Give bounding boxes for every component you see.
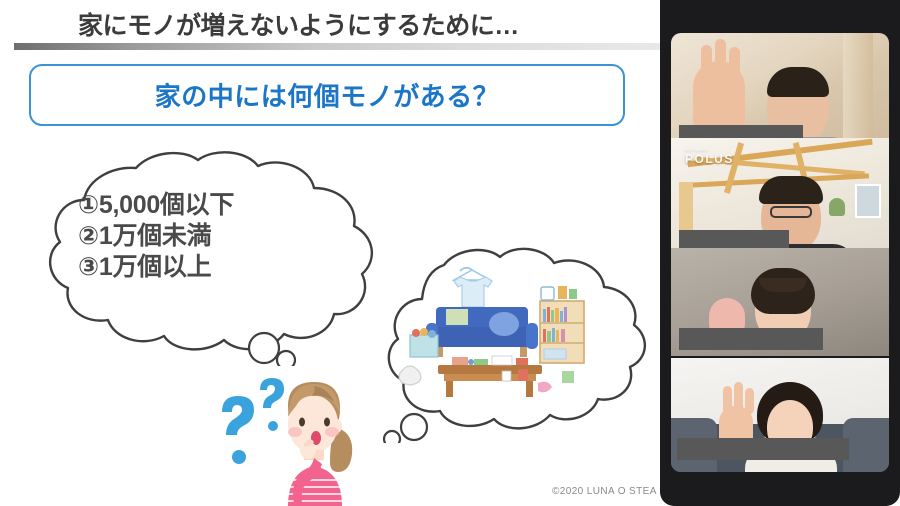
polus-logo: HOUSING POLUS bbox=[685, 148, 734, 165]
video-participants-panel: HOUSING POLUS bbox=[660, 0, 900, 506]
participant-name-redaction bbox=[679, 328, 823, 350]
copyright-notice: ©2020 LUNA O STEA bbox=[552, 486, 657, 497]
option-item-1: ①5,000個以下 bbox=[78, 190, 358, 221]
sofa-cushion bbox=[843, 418, 889, 472]
question-mark-icon bbox=[222, 378, 284, 464]
screen-share-view: 家にモノが増えないようにするために… 家の中には何個モノがある？ ①5,000個… bbox=[0, 0, 900, 506]
eyeglasses-icon bbox=[770, 206, 812, 218]
title-divider bbox=[14, 43, 660, 50]
video-tile-participant-2[interactable]: HOUSING POLUS bbox=[671, 138, 889, 254]
room-thought-bubble bbox=[352, 243, 652, 443]
plant bbox=[829, 198, 845, 216]
options-list: ①5,000個以下 ②1万個未満 ③1万個以上 bbox=[78, 190, 358, 283]
option-item-2: ②1万個未満 bbox=[78, 221, 358, 252]
video-tile-participant-1[interactable] bbox=[671, 33, 889, 149]
option-item-3: ③1万個以上 bbox=[78, 252, 358, 283]
thinking-person-illustration bbox=[196, 372, 364, 506]
presentation-slide: 家にモノが増えないようにするために… 家の中には何個モノがある？ ①5,000個… bbox=[0, 0, 660, 506]
participant-hair bbox=[759, 176, 823, 204]
video-tile-participant-3[interactable] bbox=[671, 248, 889, 356]
hand-finger bbox=[745, 388, 754, 414]
window bbox=[855, 184, 881, 218]
video-tile-participant-4[interactable] bbox=[671, 358, 889, 472]
participant-name-redaction bbox=[677, 438, 849, 460]
question-callout-text: 家の中には何個モノがある？ bbox=[31, 77, 623, 114]
hand-finger bbox=[715, 39, 726, 81]
hand-finger bbox=[729, 47, 740, 83]
participant-bangs bbox=[759, 278, 807, 292]
video-scene-decor bbox=[843, 33, 873, 149]
hand-finger bbox=[723, 386, 732, 414]
page-title: 家にモノが増えないようにするために… bbox=[78, 6, 519, 42]
question-callout-box: 家の中には何個モノがある？ bbox=[29, 64, 625, 126]
wall-panel bbox=[679, 182, 693, 232]
hand-finger bbox=[734, 382, 743, 414]
hand-finger bbox=[701, 45, 712, 81]
